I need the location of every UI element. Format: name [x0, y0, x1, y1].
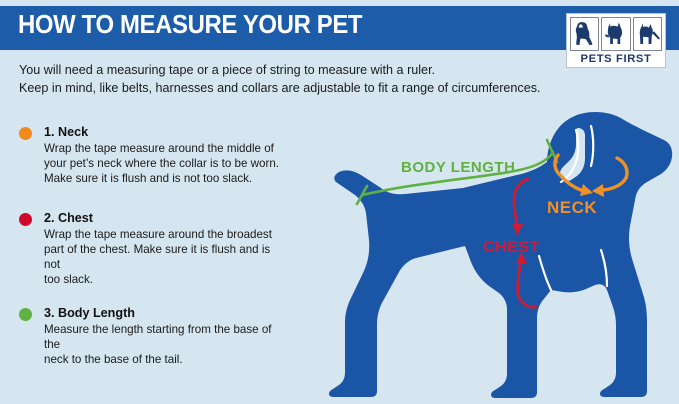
step-body-length-body-line-1: Measure the length starting from the bas… [44, 322, 287, 352]
intro-line-2: Keep in mind, like belts, harnesses and … [19, 79, 619, 97]
step-chest-body-line-1: Wrap the tape measure around the broades… [44, 227, 287, 242]
step-body-length-body: Measure the length starting from the bas… [44, 322, 287, 367]
label-neck: NECK [547, 198, 597, 217]
step-chest-body: Wrap the tape measure around the broades… [44, 227, 287, 287]
step-neck: 1. Neck Wrap the tape measure around the… [19, 124, 287, 186]
step-body-length-title: 3. Body Length [44, 305, 287, 321]
label-body-length: BODY LENGTH [401, 159, 515, 176]
step-chest-title: 2. Chest [44, 210, 287, 226]
brand-logo: PETS FIRST [566, 13, 666, 68]
step-neck-body-line-3: Make sure it is flush and is not too sla… [44, 171, 287, 186]
dog-measurement-diagram: BODY LENGTH NECK CHEST [295, 100, 675, 400]
bullet-neck-icon [19, 127, 32, 140]
label-chest: CHEST [483, 239, 540, 256]
dog-standing-icon [633, 17, 662, 51]
step-body-length: 3. Body Length Measure the length starti… [19, 305, 287, 367]
step-body-length-body-line-2: neck to the base of the tail. [44, 352, 287, 367]
step-neck-body-line-2: your pet’s neck where the collar is to b… [44, 156, 287, 171]
intro-line-1: You will need a measuring tape or a piec… [19, 61, 619, 79]
step-chest-body-line-2: part of the chest. Make sure it is flush… [44, 242, 287, 272]
bullet-body-length-icon [19, 308, 32, 321]
infographic-page: HOW TO MEASURE YOUR PET PETS FIRST Y [0, 0, 679, 404]
step-chest: 2. Chest Wrap the tape measure around th… [19, 210, 287, 287]
dog-sitting-icon [570, 17, 599, 51]
dog-begging-icon [601, 17, 630, 51]
logo-panels [570, 17, 662, 51]
intro-text: You will need a measuring tape or a piec… [19, 61, 619, 97]
step-chest-body-line-3: too slack. [44, 272, 287, 287]
step-neck-body: Wrap the tape measure around the middle … [44, 141, 287, 186]
step-neck-title: 1. Neck [44, 124, 287, 140]
step-neck-body-line-1: Wrap the tape measure around the middle … [44, 141, 287, 156]
bullet-chest-icon [19, 213, 32, 226]
page-title: HOW TO MEASURE YOUR PET [18, 9, 362, 40]
